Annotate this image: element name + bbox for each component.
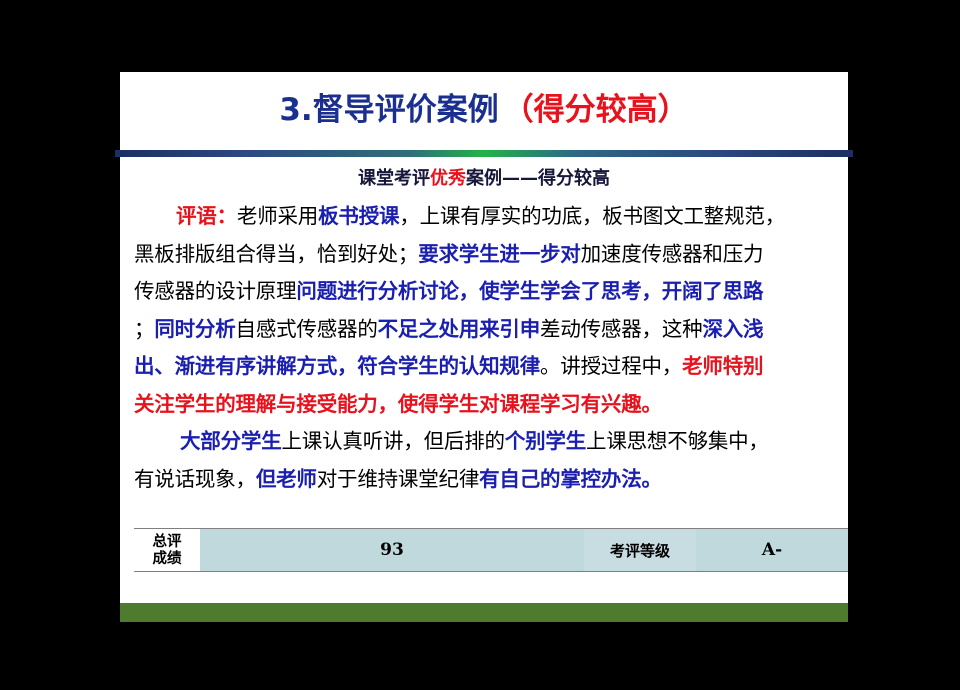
emphasis-blue-run: 不足之处用来引申 bbox=[378, 317, 540, 341]
title-divider-bar bbox=[115, 150, 853, 157]
slide-subtitle: 课堂考评优秀案例——得分较高 bbox=[120, 164, 848, 190]
total-score-label-line1: 总评 bbox=[153, 533, 182, 550]
subtitle-post: 案例——得分较高 bbox=[466, 168, 610, 189]
plain-run: 上课认真听讲，但后排的 bbox=[282, 429, 505, 453]
slide-title-text: 3.督导评价案例（得分较高） bbox=[279, 84, 688, 129]
plain-run: 。讲授过程中， bbox=[540, 354, 682, 378]
emphasis-red-run: 评语： bbox=[176, 204, 237, 228]
plain-run: 差动传感器，这种 bbox=[540, 317, 702, 341]
plain-run: 传感器的设计原理 bbox=[134, 279, 296, 303]
emphasis-blue-run: 板书授课 bbox=[318, 204, 399, 228]
plain-run: 自感式传感器的 bbox=[236, 317, 378, 341]
evaluation-line: 关注学生的理解与接受能力，使得学生对课程学习有兴趣。 bbox=[134, 386, 834, 424]
emphasis-red-run: 关注学生的理解与接受能力，使得学生对课程学习有兴趣。 bbox=[134, 392, 662, 416]
plain-run: ，上课有厚实的功底，板书图文工整规范， bbox=[399, 204, 785, 228]
emphasis-red-run: 老师特别 bbox=[682, 354, 763, 378]
plain-run: 加速度传感器和压力 bbox=[581, 242, 764, 266]
subtitle-pre: 课堂考评 bbox=[358, 168, 430, 189]
evaluation-line: ；同时分析自感式传感器的不足之处用来引申差动传感器，这种深入浅 bbox=[134, 311, 834, 349]
emphasis-blue-run: 但老师 bbox=[256, 467, 317, 491]
plain-run: 老师采用 bbox=[237, 204, 318, 228]
score-summary-table: 总评 成绩 93 考评等级 A- bbox=[134, 528, 848, 572]
grade-label: 考评等级 bbox=[584, 529, 696, 571]
plain-run: 上课思想不够集中， bbox=[586, 429, 769, 453]
emphasis-blue-run: 问题进行分析讨论，使学生学会了思考，开阔了思路 bbox=[296, 279, 763, 303]
emphasis-blue-run: 深入浅 bbox=[702, 317, 763, 341]
emphasis-blue-run: 出、渐进有序讲解方式，符合学生的认知规律 bbox=[134, 354, 540, 378]
evaluation-line: 出、渐进有序讲解方式，符合学生的认知规律。讲授过程中，老师特别 bbox=[134, 348, 834, 386]
slide-footer-bar bbox=[120, 603, 848, 622]
total-score-label-line2: 成绩 bbox=[153, 550, 182, 567]
evaluation-body: 评语：老师采用板书授课，上课有厚实的功底，板书图文工整规范，黑板排版组合得当，恰… bbox=[134, 198, 834, 498]
presentation-slide: 3.督导评价案例（得分较高） 课堂考评优秀案例——得分较高 评语：老师采用板书授… bbox=[120, 72, 848, 622]
evaluation-line: 大部分学生上课认真听讲，但后排的个别学生上课思想不够集中， bbox=[134, 423, 834, 461]
grade-value: A- bbox=[696, 529, 848, 571]
slide-title-main: 3.督导评价案例 bbox=[279, 92, 498, 128]
emphasis-blue-run: 要求学生进一步对 bbox=[418, 242, 580, 266]
emphasis-blue-run: 有自己的掌控办法。 bbox=[479, 467, 662, 491]
plain-run: 对于维持课堂纪律 bbox=[317, 467, 479, 491]
emphasis-blue-run: 同时分析 bbox=[154, 317, 235, 341]
slide-title: 3.督导评价案例（得分较高） bbox=[120, 72, 848, 140]
emphasis-blue-run: 个别学生 bbox=[505, 429, 586, 453]
evaluation-line: 有说话现象，但老师对于维持课堂纪律有自己的掌控办法。 bbox=[134, 461, 834, 499]
total-score-label: 总评 成绩 bbox=[134, 529, 200, 571]
evaluation-line: 黑板排版组合得当，恰到好处；要求学生进一步对加速度传感器和压力 bbox=[134, 236, 834, 274]
subtitle-highlight: 优秀 bbox=[430, 168, 466, 189]
total-score-value: 93 bbox=[200, 529, 584, 571]
plain-run: 有说话现象， bbox=[134, 467, 256, 491]
plain-run: ； bbox=[134, 317, 154, 341]
screenshot-viewport: 3.督导评价案例（得分较高） 课堂考评优秀案例——得分较高 评语：老师采用板书授… bbox=[0, 0, 960, 690]
evaluation-line: 传感器的设计原理问题进行分析讨论，使学生学会了思考，开阔了思路 bbox=[134, 273, 834, 311]
evaluation-line: 评语：老师采用板书授课，上课有厚实的功底，板书图文工整规范， bbox=[134, 198, 834, 236]
slide-title-suffix: （得分较高） bbox=[503, 92, 689, 128]
plain-run: 黑板排版组合得当，恰到好处； bbox=[134, 242, 418, 266]
emphasis-blue-run: 大部分学生 bbox=[180, 429, 282, 453]
